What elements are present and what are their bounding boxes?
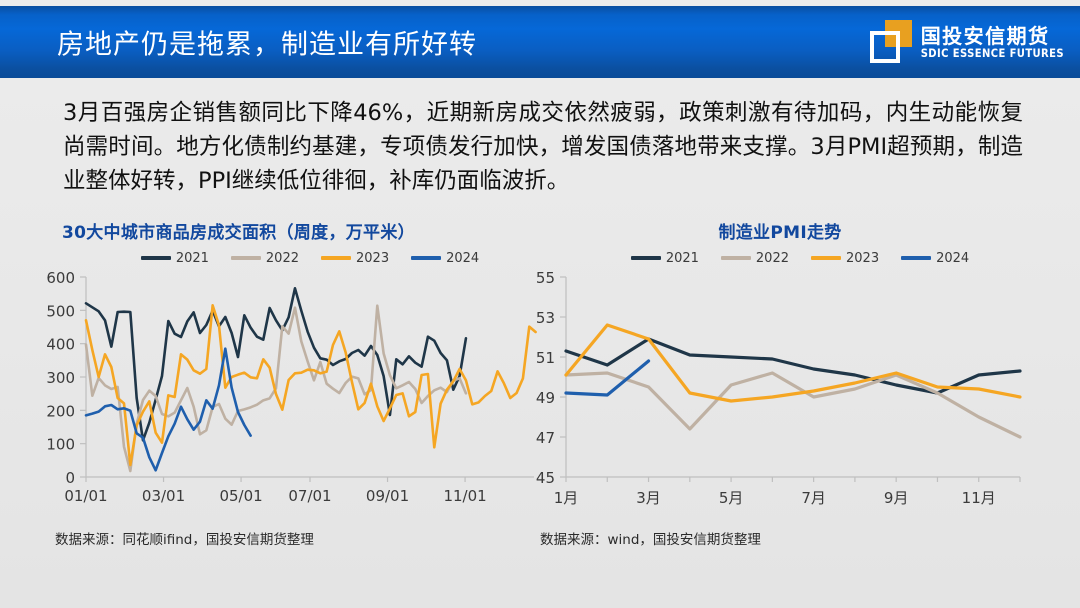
legend-item-2022: 2022 bbox=[231, 251, 299, 266]
plot-area-pmi: 4547495153551月3月5月7月9月11月 bbox=[530, 269, 1030, 501]
legend-swatch-2022 bbox=[721, 256, 751, 260]
svg-text:53: 53 bbox=[536, 309, 555, 327]
legend-item-2024: 2024 bbox=[901, 251, 969, 266]
svg-text:200: 200 bbox=[46, 402, 75, 420]
legend-swatch-2021 bbox=[631, 256, 661, 260]
chart-svg-housing: 010020030040050060001/0103/0105/0107/010… bbox=[40, 269, 540, 521]
source-note-housing: 数据来源：同花顺ifind，国投安信期货整理 bbox=[55, 528, 314, 548]
logo-white-square-icon bbox=[870, 31, 900, 63]
legend-item-2023: 2023 bbox=[321, 251, 389, 266]
svg-text:11/01: 11/01 bbox=[443, 487, 486, 505]
svg-text:9月: 9月 bbox=[884, 489, 909, 507]
svg-text:3月: 3月 bbox=[636, 489, 661, 507]
svg-text:100: 100 bbox=[46, 436, 75, 454]
svg-text:09/01: 09/01 bbox=[366, 487, 409, 505]
legend-item-2023: 2023 bbox=[811, 251, 879, 266]
legend-item-2022: 2022 bbox=[721, 251, 789, 266]
plot-area-housing: 010020030040050060001/0103/0105/0107/010… bbox=[40, 269, 540, 501]
logo-name-en: SDIC ESSENCE FUTURES bbox=[921, 49, 1064, 61]
svg-text:600: 600 bbox=[46, 269, 75, 287]
legend-item-2024: 2024 bbox=[411, 251, 479, 266]
svg-text:51: 51 bbox=[536, 349, 555, 367]
legend-label-2022: 2022 bbox=[756, 251, 789, 266]
legend-item-2021: 2021 bbox=[631, 251, 699, 266]
legend-label-2021: 2021 bbox=[666, 251, 699, 266]
svg-text:45: 45 bbox=[536, 469, 555, 487]
logo-name-cn: 国投安信期货 bbox=[921, 26, 1064, 46]
legend-swatch-2023 bbox=[321, 256, 351, 260]
logo-text: 国投安信期货 SDIC ESSENCE FUTURES bbox=[921, 26, 1064, 59]
svg-text:400: 400 bbox=[46, 336, 75, 354]
legend-label-2024: 2024 bbox=[936, 251, 969, 266]
svg-text:7月: 7月 bbox=[801, 489, 826, 507]
legend-label-2024: 2024 bbox=[446, 251, 479, 266]
svg-text:47: 47 bbox=[536, 429, 555, 447]
svg-text:55: 55 bbox=[536, 269, 555, 287]
chart-panel-housing: 30大中城市商品房成交面积（周度，万平米） 2021 2022 2023 202… bbox=[40, 218, 540, 558]
page-title: 房地产仍是拖累，制造业有所好转 bbox=[57, 23, 477, 62]
svg-text:01/01: 01/01 bbox=[64, 487, 107, 505]
svg-text:0: 0 bbox=[65, 469, 75, 487]
svg-text:300: 300 bbox=[46, 369, 75, 387]
legend-label-2022: 2022 bbox=[266, 251, 299, 266]
slide: 房地产仍是拖累，制造业有所好转 国投安信期货 SDIC ESSENCE FUTU… bbox=[0, 0, 1080, 608]
legend-swatch-2021 bbox=[141, 256, 171, 260]
logo-mark-icon bbox=[870, 20, 912, 64]
svg-text:03/01: 03/01 bbox=[142, 487, 185, 505]
company-logo: 国投安信期货 SDIC ESSENCE FUTURES bbox=[870, 20, 1064, 64]
svg-text:49: 49 bbox=[536, 389, 555, 407]
source-note-pmi: 数据来源：wind，国投安信期货整理 bbox=[540, 528, 761, 548]
svg-text:500: 500 bbox=[46, 302, 75, 320]
legend-swatch-2022 bbox=[231, 256, 261, 260]
svg-text:1月: 1月 bbox=[554, 489, 579, 507]
header-banner: 房地产仍是拖累，制造业有所好转 国投安信期货 SDIC ESSENCE FUTU… bbox=[0, 6, 1080, 78]
chart-svg-pmi: 4547495153551月3月5月7月9月11月 bbox=[530, 269, 1030, 521]
legend-swatch-2024 bbox=[901, 256, 931, 260]
chart-title-pmi: 制造业PMI走势 bbox=[530, 218, 1030, 243]
legend-swatch-2023 bbox=[811, 256, 841, 260]
svg-text:07/01: 07/01 bbox=[288, 487, 331, 505]
chart-legend-housing: 2021 2022 2023 2024 bbox=[80, 249, 540, 267]
svg-text:5月: 5月 bbox=[719, 489, 744, 507]
svg-text:05/01: 05/01 bbox=[219, 487, 262, 505]
legend-label-2021: 2021 bbox=[176, 251, 209, 266]
legend-label-2023: 2023 bbox=[846, 251, 879, 266]
chart-panel-pmi: 制造业PMI走势 2021 2022 2023 2024 45474951535… bbox=[530, 218, 1030, 558]
legend-swatch-2024 bbox=[411, 256, 441, 260]
legend-label-2023: 2023 bbox=[356, 251, 389, 266]
chart-legend-pmi: 2021 2022 2023 2024 bbox=[570, 249, 1030, 267]
chart-title-housing: 30大中城市商品房成交面积（周度，万平米） bbox=[40, 218, 540, 243]
legend-item-2021: 2021 bbox=[141, 251, 209, 266]
svg-text:11月: 11月 bbox=[962, 489, 996, 507]
summary-paragraph: 3月百强房企销售额同比下降46%，近期新房成交依然疲弱，政策刺激有待加码，内生动… bbox=[63, 96, 1023, 198]
